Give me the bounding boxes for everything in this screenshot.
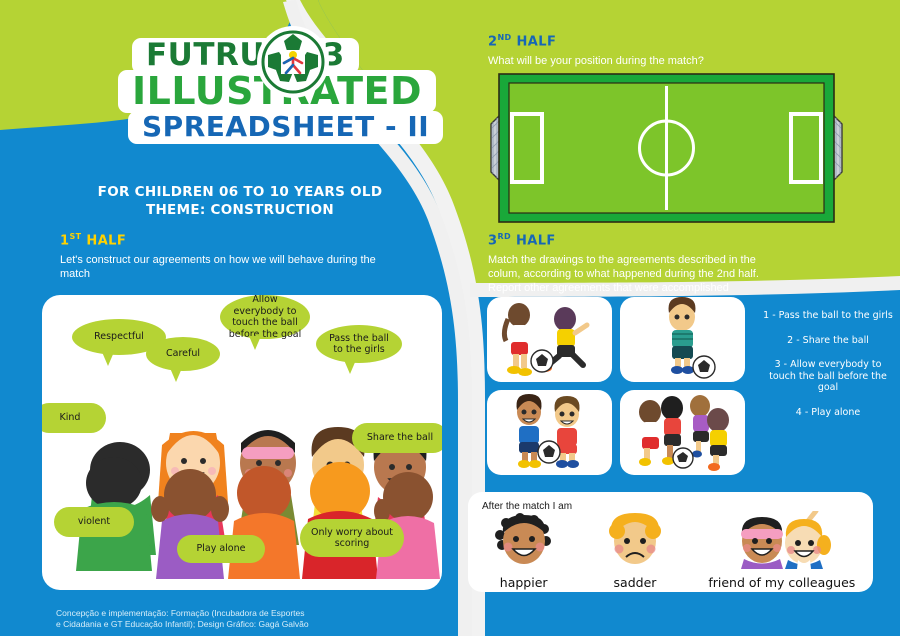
picture-two-boys-ball[interactable] (487, 390, 612, 475)
second-half-ordinal: ND (497, 33, 511, 42)
third-half-word: HALF (516, 233, 556, 248)
happy-face-icon (486, 511, 562, 569)
group-playing-illustration (620, 390, 745, 475)
bubble-pass-the-ball[interactable]: Pass the ball to the girls (316, 325, 402, 363)
bubble-only-worry[interactable]: Only worry about scoring (300, 519, 404, 557)
boy-with-ball-illustration (620, 297, 745, 382)
bubble-allow-everybody[interactable]: Allow everybody to touch the ball before… (220, 295, 310, 339)
mood-label-sadder: sadder (597, 575, 673, 590)
two-boys-ball-illustration (487, 390, 612, 475)
first-half-word: HALF (86, 233, 126, 248)
mood-label-friend: friend of my colleagues (708, 575, 855, 590)
second-half-description: What will be your position during the ma… (488, 54, 858, 68)
two-kids-kicking-illustration (487, 297, 612, 382)
title-line-spreadsheet: SPREADSHEET - II (128, 111, 443, 144)
first-half-ordinal: ST (69, 232, 81, 241)
subtitle-line-2: THEME: CONSTRUCTION (60, 201, 420, 219)
first-half-description: Let's construct our agreements on how we… (60, 253, 380, 281)
mood-option-friend[interactable]: friend of my colleagues (708, 511, 855, 590)
bubble-kind[interactable]: Kind (42, 403, 106, 433)
agreement-item-1[interactable]: 1 - Pass the ball to the girls (762, 310, 894, 322)
mood-option-sadder[interactable]: sadder (597, 511, 673, 590)
boy-blue-shirt (517, 394, 542, 468)
poster-root: FUTRUAS 3 ILLUSTRATED SPREADSHEET - II F… (0, 0, 900, 636)
agreement-item-2[interactable]: 2 - Share the ball (762, 335, 894, 347)
footer-line-1: Concepção e implementação: Formação (Inc… (56, 608, 396, 619)
third-half-ordinal: RD (497, 232, 511, 241)
agreements-list: 1 - Pass the ball to the girls 2 - Share… (762, 310, 894, 431)
mood-label-happier: happier (486, 575, 562, 590)
girl-dark-hair (639, 400, 661, 466)
mood-option-happier[interactable]: happier (486, 511, 562, 590)
section-first-half: 1ST HALF Let's construct our agreements … (60, 232, 380, 281)
second-half-title: 2ND HALF (488, 33, 858, 49)
sad-face-icon (597, 511, 673, 569)
footer-credits: Concepção e implementação: Formação (Inc… (56, 608, 396, 630)
friend-right (785, 511, 831, 569)
third-half-title: 3RD HALF (488, 232, 788, 248)
two-friends-icon (722, 511, 842, 569)
footer-line-2: e Cidadania e GT Educação Infantil); Des… (56, 619, 396, 630)
futruas-ball-logo-icon (256, 25, 330, 99)
agreement-item-4[interactable]: 4 - Play alone (762, 407, 894, 419)
poster-subtitle: FOR CHILDREN 06 TO 10 YEARS OLD THEME: C… (60, 183, 420, 219)
agreements-illustration-card: Respectful Careful Allow everybody to to… (42, 295, 442, 590)
boy-yellow-shirt-group (707, 408, 729, 471)
first-half-title: 1ST HALF (60, 232, 380, 248)
third-half-description: Match the drawings to the agreements des… (488, 253, 788, 295)
agreement-item-3[interactable]: 3 - Allow everybody to touch the ball be… (762, 359, 894, 394)
friend-left (741, 517, 783, 569)
picture-group-playing[interactable] (620, 390, 745, 475)
subtitle-line-1: FOR CHILDREN 06 TO 10 YEARS OLD (60, 183, 420, 201)
bubble-share-the-ball[interactable]: Share the ball (352, 423, 442, 453)
bubble-play-alone[interactable]: Play alone (177, 535, 265, 563)
girl-red-shorts (504, 303, 532, 376)
picture-two-kids-kicking[interactable] (487, 297, 612, 382)
bubble-violent[interactable]: violent (54, 507, 134, 537)
bubble-careful[interactable]: Careful (146, 337, 220, 371)
mood-items-row: happier sadder (468, 512, 873, 590)
soccer-field-diagram[interactable] (489, 72, 844, 224)
girl-purple-shirt (690, 395, 710, 458)
section-third-half: 3RD HALF Match the drawings to the agree… (488, 232, 788, 295)
picture-boy-with-ball[interactable] (620, 297, 745, 382)
after-match-mood-card: After the match I am (468, 492, 873, 592)
second-half-word: HALF (517, 34, 557, 49)
section-second-half: 2ND HALF What will be your position duri… (488, 33, 858, 68)
